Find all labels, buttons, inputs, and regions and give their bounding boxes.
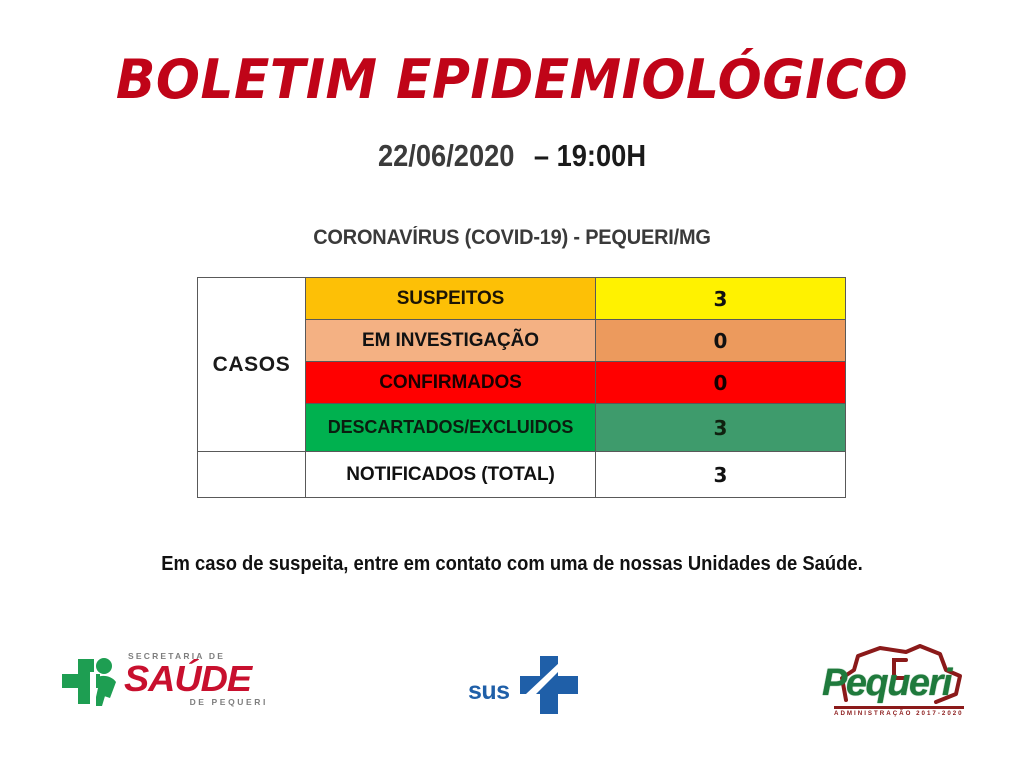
bulletin-date: 22/06/2020	[378, 138, 515, 173]
logo-bar: SECRETARIA DE SAÚDE DE PEQUERI sus	[0, 640, 1024, 740]
row-value-suspeitos: 3	[596, 278, 846, 320]
logo-pequeri-wordmark: Pequeri	[822, 664, 951, 702]
slide-canvas: BOLETIM EPIDEMIOLÓGICO 22/06/2020– 19:00…	[0, 0, 1024, 768]
row-value-descartados-excluidos: 3	[596, 404, 846, 452]
row-label-suspeitos: SUSPEITOS	[306, 278, 596, 320]
table-row: CASOS SUSPEITOS 3	[198, 278, 846, 320]
logo-saude-text: SECRETARIA DE SAÚDE DE PEQUERI	[122, 650, 272, 706]
health-cross-person-icon	[60, 654, 122, 712]
row-label-em-investigacao: EM INVESTIGAÇÃO	[306, 320, 596, 362]
footer-note: Em caso de suspeita, entre em contato co…	[41, 553, 983, 576]
row-group-label-casos: CASOS	[198, 278, 306, 452]
row-value-em-investigacao: 0	[596, 320, 846, 362]
logo-pequeri-divider	[834, 706, 964, 709]
logo-pequeri: Pequeri ADMINISTRAÇÃO 2017-2020	[818, 644, 978, 726]
page-title: BOLETIM EPIDEMIOLÓGICO	[20, 52, 1003, 109]
logo-sus: sus	[468, 656, 578, 716]
logo-sus-wordmark: sus	[468, 677, 510, 706]
logo-saude-line3: DE PEQUERI	[122, 698, 268, 707]
row-value-confirmados: 0	[596, 362, 846, 404]
sus-cross-icon	[520, 656, 578, 714]
logo-pequeri-admin-line: ADMINISTRAÇÃO 2017-2020	[834, 710, 959, 717]
bulletin-time: – 19:00H	[534, 138, 646, 173]
logo-secretaria-saude: SECRETARIA DE SAÚDE DE PEQUERI	[60, 648, 275, 720]
row-label-descartados-excluidos: DESCARTADOS/EXCLUIDOS	[306, 404, 596, 452]
row-value-notificados-total: 3	[596, 452, 846, 498]
row-label-notificados-total: NOTIFICADOS (TOTAL)	[306, 452, 596, 498]
cases-table: CASOS SUSPEITOS 3 EM INVESTIGAÇÃO 0 CONF…	[197, 277, 846, 498]
row-label-confirmados: CONFIRMADOS	[306, 362, 596, 404]
bulletin-datetime: 22/06/2020– 19:00H	[61, 138, 962, 174]
cases-table-wrapper: CASOS SUSPEITOS 3 EM INVESTIGAÇÃO 0 CONF…	[197, 277, 845, 498]
logo-saude-line2: SAÚDE	[124, 662, 279, 696]
row-group-label-empty	[198, 452, 306, 498]
page-subtitle: CORONAVÍRUS (COVID-19) - PEQUERI/MG	[26, 226, 999, 250]
table-row: NOTIFICADOS (TOTAL) 3	[198, 452, 846, 498]
